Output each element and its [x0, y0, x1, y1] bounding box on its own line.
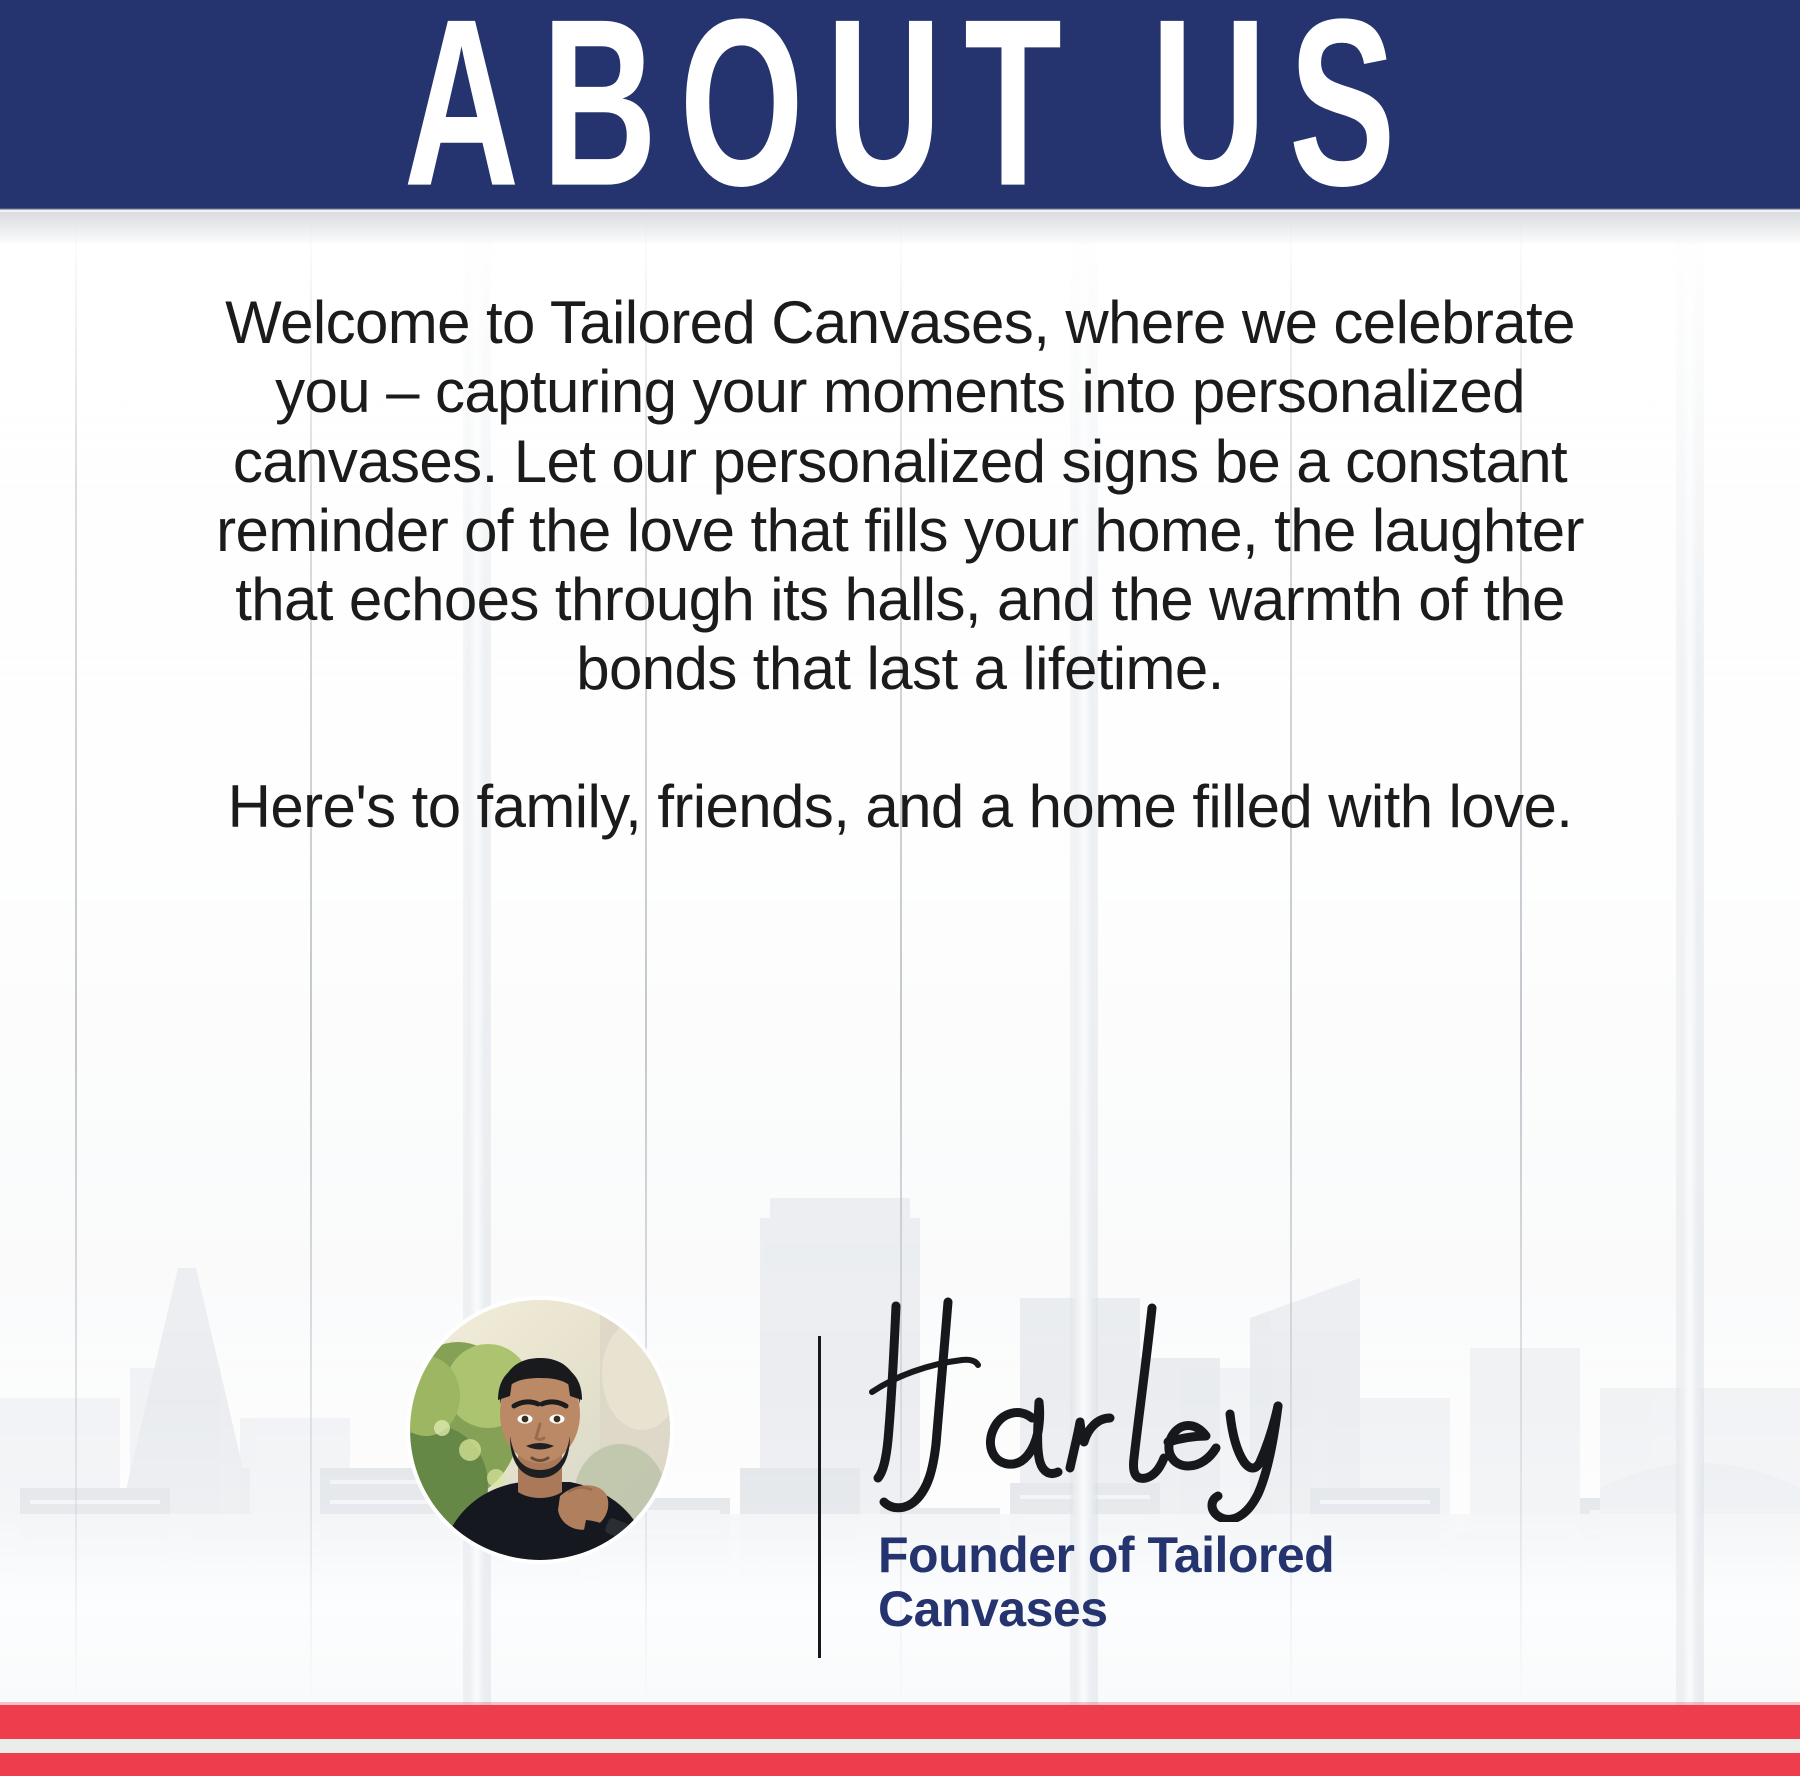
footer-stripe-lower [0, 1753, 1800, 1776]
role-line-2: Canvases [878, 1582, 1438, 1636]
page-title: ABOUT US [382, 0, 1419, 223]
header-banner: ABOUT US [0, 0, 1800, 208]
paragraph-closing: Here's to family, friends, and a home fi… [200, 772, 1600, 841]
footer-stripe-gap [0, 1739, 1800, 1753]
signature-harley [836, 1272, 1456, 1522]
paragraph-intro: Welcome to Tailored Canvases, where we c… [200, 288, 1600, 704]
avatar [410, 1300, 670, 1560]
founder-role: Founder of Tailored Canvases [878, 1528, 1438, 1636]
signature-divider [818, 1336, 821, 1658]
about-us-graphic: ABOUT US Welcome to Tailored Canvases, w… [0, 0, 1800, 1776]
header-divider-rule [0, 208, 1800, 212]
role-line-1: Founder of Tailored [878, 1528, 1438, 1582]
about-us-body-copy: Welcome to Tailored Canvases, where we c… [200, 288, 1600, 841]
footer-stripe-upper [0, 1705, 1800, 1739]
paragraph-spacer [200, 704, 1600, 772]
